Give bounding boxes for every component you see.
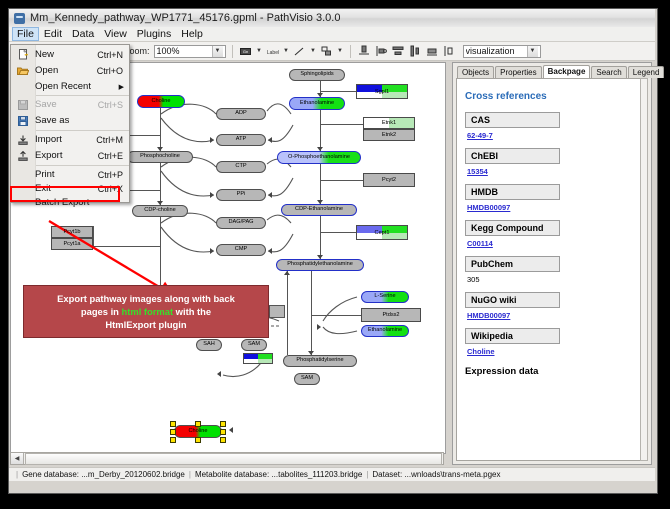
- node-cmp[interactable]: CMP: [216, 244, 266, 256]
- node-label: CDP-choline: [144, 208, 175, 214]
- node-label: PPi: [237, 192, 246, 198]
- arrow-icon: [210, 137, 214, 143]
- edge-pcyt-stub: [93, 226, 94, 248]
- line-dropdown-icon[interactable]: ▼: [310, 48, 317, 54]
- arrow-icon: [217, 371, 221, 377]
- arrow-icon: [210, 248, 214, 254]
- batch-export-highlight-box: [10, 186, 120, 202]
- annotation-html-format: html format: [122, 306, 174, 317]
- node-phosphatidylserine[interactable]: Phosphatidylserine: [283, 355, 357, 367]
- node-o-phosphoethanolamine[interactable]: O-Phosphoethanolamine: [277, 151, 361, 164]
- edge-etn-ophospho: [320, 110, 321, 151]
- menu-item-shortcut: Ctrl+O: [97, 66, 123, 76]
- edge-ptdetn-ptdser: [311, 271, 312, 355]
- edge-ptdser-ptdetn-back: [287, 271, 288, 355]
- menu-item-export[interactable]: Export Ctrl+E: [11, 148, 129, 163]
- save-icon: [11, 100, 35, 110]
- xref-value-link[interactable]: HMDB00097: [467, 203, 641, 212]
- tab-legend[interactable]: Legend: [628, 66, 665, 78]
- tab-properties[interactable]: Properties: [495, 66, 541, 78]
- xref-value-link[interactable]: Choline: [467, 347, 641, 356]
- gene-label: Etnk2: [382, 132, 396, 138]
- gene-box-etnk1[interactable]: Etnk1: [363, 117, 415, 129]
- menu-item-label: Open Recent: [35, 81, 91, 92]
- svg-text:Label: Label: [266, 50, 278, 56]
- file-menu-dropdown[interactable]: New Ctrl+N Open Ctrl+O Open Recent ▶ Sav…: [10, 44, 130, 203]
- annotation-line-3: HtmlExport plugin: [57, 318, 235, 331]
- xref-value-text: 305: [467, 275, 641, 284]
- menu-item-open[interactable]: Open Ctrl+O: [11, 63, 129, 78]
- node-ethanolamine-2[interactable]: Ethanolamine: [361, 325, 409, 337]
- window-title: Mm_Kennedy_pathway_WP1771_45176.gpml - P…: [30, 12, 340, 24]
- align-left-icon[interactable]: [374, 44, 388, 58]
- gene-label: Cept1: [375, 230, 390, 236]
- chevron-right-icon: ▶: [119, 83, 124, 91]
- menu-item-save-as[interactable]: Save as: [11, 113, 129, 128]
- menu-item-label: Export: [35, 150, 62, 161]
- align-top-icon[interactable]: [357, 44, 371, 58]
- shape-dropdown-icon[interactable]: ▼: [337, 48, 344, 54]
- menu-item-label: Print: [35, 169, 55, 180]
- scroll-left-icon[interactable]: ◀: [11, 453, 24, 464]
- menu-item-import[interactable]: Import Ctrl+M: [11, 132, 129, 147]
- side-panel: Objects Properties Backpage Search Legen…: [452, 62, 652, 465]
- chevron-down-icon: ▼: [212, 46, 223, 57]
- distribute-horizontal-icon[interactable]: [408, 44, 422, 58]
- xref-database-name: Kegg Compound: [465, 220, 560, 236]
- tab-objects[interactable]: Objects: [457, 66, 494, 78]
- node-label: ADP: [235, 111, 247, 117]
- gene-box-pcyt1a[interactable]: Pcyt1a: [51, 238, 93, 250]
- node-sphingolipids[interactable]: Sphingolipids: [289, 69, 345, 81]
- xref-database-name: NuGO wiki: [465, 292, 560, 308]
- edge-gene-sgpl1: [321, 91, 357, 92]
- selection-handle[interactable]: [220, 437, 226, 443]
- xref-hmdb: HMDB HMDB00097: [465, 184, 641, 212]
- menu-item-label: Save: [35, 99, 57, 110]
- gene-box-pcyt1b[interactable]: Pcyt1b: [51, 226, 93, 238]
- gene-label: Pcyt1a: [63, 241, 80, 247]
- xref-value-link[interactable]: 15354: [467, 167, 641, 176]
- node-label: CMP: [235, 247, 247, 253]
- gene-box-ptdss2[interactable]: Ptdss2: [361, 308, 421, 322]
- menu-separator: [36, 95, 129, 96]
- node-sam-1[interactable]: SAM: [241, 339, 267, 351]
- menu-item-shortcut: Ctrl+M: [96, 135, 123, 145]
- node-label: Choline: [152, 99, 171, 105]
- status-bar: | Gene database: ...m_Derby_20120602.bri…: [9, 467, 655, 481]
- backpage-content: Cross references CAS 62-49-7 ChEBI 15354…: [456, 78, 642, 461]
- annotation-line-1: Export pathway images along with back: [57, 292, 235, 305]
- xref-value-link[interactable]: C00114: [467, 239, 641, 248]
- xref-kegg-compound: Kegg Compound C00114: [465, 220, 641, 248]
- gene-label: Etnk1: [382, 120, 396, 126]
- xref-chebi: ChEBI 15354: [465, 148, 641, 176]
- node-dag-pag[interactable]: DAG/PAG: [216, 217, 266, 229]
- node-label: Choline: [189, 429, 208, 435]
- selection-handle[interactable]: [220, 421, 226, 427]
- shape-tool-icon[interactable]: [320, 44, 334, 58]
- distribute-vertical-icon[interactable]: [391, 44, 405, 58]
- arrow-icon: [284, 271, 290, 275]
- node-label: SAH: [203, 342, 215, 348]
- xref-database-name: PubChem: [465, 256, 560, 272]
- open-folder-icon: [11, 66, 35, 76]
- scrollbar-thumb[interactable]: [25, 453, 442, 465]
- same-height-icon[interactable]: [442, 44, 456, 58]
- xref-value-link[interactable]: 62-49-7: [467, 131, 641, 140]
- xref-database-name: ChEBI: [465, 148, 560, 164]
- menu-item-shortcut: Ctrl+S: [98, 100, 123, 110]
- node-label: Ethanolamine: [368, 328, 402, 334]
- gene-box-marker[interactable]: [243, 353, 273, 364]
- annotation-line-2a: pages in: [81, 306, 122, 317]
- annotation-line-2c: with the: [173, 306, 211, 317]
- node-label: Phosphocholine: [140, 154, 180, 160]
- visualization-combobox[interactable]: visualization ▼: [463, 45, 541, 58]
- node-label: L-Serine: [374, 294, 395, 300]
- selection-handle[interactable]: [170, 429, 176, 435]
- node-ctp[interactable]: CTP: [216, 161, 266, 173]
- node-choline[interactable]: Choline: [137, 95, 185, 108]
- selection-handle[interactable]: [220, 429, 226, 435]
- node-atp[interactable]: ATP: [216, 134, 266, 146]
- status-divider: |: [366, 470, 368, 479]
- menu-item-shortcut: Ctrl+P: [98, 170, 123, 180]
- node-label: SAM: [301, 376, 313, 382]
- zoom-value: 100%: [157, 46, 180, 56]
- arrow-icon: [268, 192, 272, 198]
- xref-cas: CAS 62-49-7: [465, 112, 641, 140]
- arrow-icon: [268, 248, 272, 254]
- edge-cdpetn-ptdetn: [320, 216, 321, 259]
- tab-search[interactable]: Search: [591, 66, 626, 78]
- node-label: Ethanolamine: [300, 101, 334, 107]
- import-icon: [11, 135, 35, 145]
- edge-gene-left-3: [93, 246, 161, 247]
- screenshot-root: Mm_Kennedy_pathway_WP1771_45176.gpml - P…: [0, 0, 670, 509]
- node-sam-2[interactable]: SAM: [294, 373, 320, 385]
- menu-item-label: New: [35, 49, 54, 60]
- menu-edit[interactable]: Edit: [39, 27, 67, 41]
- arrow-icon: [229, 427, 233, 433]
- same-width-icon[interactable]: [425, 44, 439, 58]
- gene-box-etnk2[interactable]: Etnk2: [363, 129, 415, 141]
- node-label: O-Phosphoethanolamine: [288, 155, 350, 161]
- visualization-value: visualization: [466, 46, 515, 56]
- node-label: Phosphatidylethanolamine: [287, 262, 353, 268]
- selection-handle[interactable]: [195, 421, 201, 427]
- edge-gene-etnk: [321, 124, 363, 125]
- node-adp[interactable]: ADP: [216, 108, 266, 120]
- export-icon: [11, 151, 35, 161]
- gene-label: Sgpl1: [375, 89, 389, 95]
- line-tool-icon[interactable]: [293, 44, 307, 58]
- gene-bottom-half: [244, 359, 272, 364]
- node-label: ATP: [236, 137, 246, 143]
- annotation-line-2: pages in html format with the: [57, 305, 235, 318]
- node-label: SAM: [248, 342, 260, 348]
- xref-database-name: HMDB: [465, 184, 560, 200]
- menu-item-label: Open: [35, 65, 58, 76]
- menu-file[interactable]: File: [12, 27, 39, 41]
- menu-separator: [36, 130, 129, 131]
- menu-item-new[interactable]: New Ctrl+N: [11, 47, 129, 62]
- node-cdp-ethanolamine[interactable]: CDP-Ethanolamine: [281, 204, 357, 216]
- xref-database-name: CAS: [465, 112, 560, 128]
- node-ethanolamine[interactable]: Ethanolamine: [289, 97, 345, 110]
- xref-value-link[interactable]: HMDB00097: [467, 311, 641, 320]
- side-panel-scrollbar[interactable]: [640, 78, 648, 461]
- node-phosphocholine[interactable]: Phosphocholine: [127, 151, 193, 163]
- annotation-callout: Export pathway images along with back pa…: [23, 285, 269, 338]
- menu-item-label: Import: [35, 134, 62, 145]
- node-ppi[interactable]: PPi: [216, 189, 266, 201]
- menu-item-open-recent[interactable]: Open Recent ▶: [11, 79, 129, 94]
- node-phosphatidylethanolamine[interactable]: Phosphatidylethanolamine: [276, 259, 364, 271]
- node-label: CDP-Ethanolamine: [295, 207, 343, 213]
- node-label: Phosphatidylserine: [296, 358, 343, 364]
- svg-text:Gn: Gn: [243, 49, 248, 54]
- edge-gene-cept1: [321, 232, 357, 233]
- chevron-down-icon: ▼: [527, 46, 538, 57]
- selection-handle[interactable]: [170, 437, 176, 443]
- expression-data-title: Expression data: [465, 366, 641, 377]
- gene-label: Pcyt1b: [63, 229, 80, 235]
- new-file-icon: [11, 49, 35, 60]
- canvas-horizontal-scrollbar[interactable]: ◀: [10, 452, 444, 465]
- xref-wikipedia: Wikipedia Choline: [465, 328, 641, 356]
- cross-references-title: Cross references: [465, 91, 641, 102]
- tab-backpage[interactable]: Backpage: [543, 65, 591, 78]
- node-cdp-choline[interactable]: CDP-choline: [132, 205, 188, 217]
- title-bar: Mm_Kennedy_pathway_WP1771_45176.gpml - P…: [9, 9, 655, 28]
- edge-ophospho-cdpetn: [320, 164, 321, 204]
- node-label: Sphingolipids: [300, 72, 333, 78]
- xref-pubchem: PubChem 305: [465, 256, 641, 284]
- annotation-anchor-box: [269, 305, 285, 318]
- edge-gene-ptdss2: [311, 315, 361, 316]
- status-gene-database: Gene database: ...m_Derby_20120602.bridg…: [22, 470, 185, 479]
- datanode-dropdown-icon[interactable]: ▼: [256, 48, 263, 54]
- pathvisio-icon: [14, 13, 25, 24]
- arrow-icon: [268, 137, 272, 143]
- gene-box-pcyt2[interactable]: Pcyt2: [363, 173, 415, 187]
- node-label: CTP: [235, 164, 246, 170]
- menu-view[interactable]: View: [99, 27, 132, 41]
- node-label: DAG/PAG: [228, 220, 253, 226]
- xref-database-name: Wikipedia: [465, 328, 560, 344]
- selection-handle[interactable]: [170, 421, 176, 427]
- menu-plugins[interactable]: Plugins: [132, 27, 176, 41]
- status-divider: |: [16, 470, 18, 479]
- status-divider: |: [189, 470, 191, 479]
- toolbar-separator: [232, 45, 233, 58]
- gene-label: Ptdss2: [382, 312, 399, 318]
- datanode-tool-icon[interactable]: Gn: [239, 44, 253, 58]
- status-dataset: Dataset: ...wnloads\trans-meta.pgex: [372, 470, 500, 479]
- menu-bar: File Edit Data View Plugins Help: [9, 27, 655, 42]
- status-metabolite-database: Metabolite database: ...tabolites_111203…: [195, 470, 362, 479]
- node-l-serine[interactable]: L-Serine: [361, 291, 409, 303]
- selection-handle[interactable]: [195, 437, 201, 443]
- toolbar-separator-2: [350, 45, 351, 58]
- menu-item-save: Save Ctrl+S: [11, 97, 129, 112]
- arrow-icon: [210, 192, 214, 198]
- menu-separator: [36, 165, 129, 166]
- gene-box-cept1[interactable]: Cept1: [356, 225, 408, 240]
- menu-item-label: Save as: [35, 115, 69, 126]
- label-dropdown-icon[interactable]: ▼: [283, 48, 290, 54]
- gene-label: Pcyt2: [382, 177, 396, 183]
- label-tool-icon[interactable]: Label: [266, 44, 280, 58]
- zoom-combobox[interactable]: 100% ▼: [154, 45, 226, 58]
- edge-gene-pcyt2: [321, 180, 363, 181]
- gene-box-sgpl1[interactable]: Sgpl1: [356, 84, 408, 99]
- menu-item-shortcut: Ctrl+N: [97, 50, 123, 60]
- save-as-icon: [11, 116, 35, 126]
- menu-help[interactable]: Help: [176, 27, 208, 41]
- menu-item-print[interactable]: Print Ctrl+P: [11, 167, 129, 182]
- xref-nugo-wiki: NuGO wiki HMDB00097: [465, 292, 641, 320]
- menu-item-shortcut: Ctrl+E: [98, 151, 123, 161]
- arrow-icon: [317, 324, 321, 330]
- side-panel-tabs: Objects Properties Backpage Search Legen…: [453, 63, 651, 78]
- node-sah-1[interactable]: SAH: [196, 339, 222, 351]
- menu-data[interactable]: Data: [67, 27, 99, 41]
